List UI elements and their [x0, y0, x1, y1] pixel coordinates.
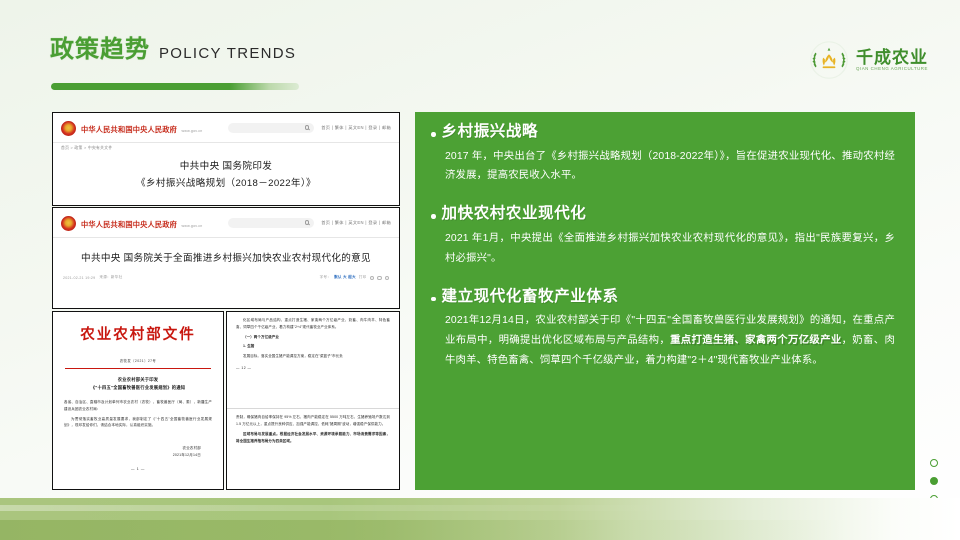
font-size-options[interactable]: 默认 大 超大: [334, 275, 356, 280]
footer-decorative-band: [0, 498, 960, 540]
gov-org-name: 中华人民共和国中央人民政府: [81, 125, 177, 134]
policy-body-text: 2017 年，中央出台了《乡村振兴战略规划（2018-2022年）》，旨在促进农…: [445, 151, 895, 182]
refresh-icon[interactable]: [377, 276, 382, 281]
policy-section-1: 乡村振兴战略 2017 年，中央出台了《乡村振兴战略规划（2018-2022年）…: [431, 124, 897, 186]
gov-org-name: 中华人民共和国中央人民政府: [81, 220, 177, 229]
gov-search-input[interactable]: [228, 218, 314, 228]
document-meta-row: 2021-02-21 19:29 来源：新华社 字号： 默认 大 超大 打印: [53, 267, 399, 280]
document-screenshot-plan-body[interactable]: 化区域布局与产品结构，重点打造生猪、家禽两个万亿级产业，奶畜、肉牛肉羊、特色畜禽…: [226, 311, 400, 490]
document-number: 农牧发〔2021〕27号: [53, 358, 223, 363]
document-meta-tools[interactable]: 字号： 默认 大 超大 打印: [320, 275, 389, 280]
gov-search-input[interactable]: [228, 123, 314, 133]
policy-section-3-title: 建立现代化畜牧产业体系: [442, 289, 619, 305]
breadcrumb[interactable]: 首页 > 政策 > 中央有关文件: [53, 143, 399, 151]
pagination-dot-2-active[interactable]: [930, 477, 938, 485]
brand-logo: 千成农业 QIAN CHENG AGRICULTURE: [809, 40, 928, 80]
document-body-paragraph: 化区域布局与产品结构，重点打造生猪、家禽两个万亿级产业，奶畜、肉牛肉羊、特色畜禽…: [236, 317, 390, 331]
document-title: 中共中央 国务院印发 《乡村振兴战略规划（2018－2022年）》: [53, 151, 399, 193]
gov-site-header: 中华人民共和国中央人民政府 www.gov.cn 首页 | 繁体 | 英文EN …: [53, 208, 399, 238]
document-title-line-2: 《乡村振兴战略规划（2018－2022年）》: [63, 176, 389, 193]
document-title-line-1: 中共中央 国务院印发: [63, 159, 389, 176]
title-underline-bar: [51, 83, 299, 90]
document-block-gap: [227, 371, 399, 408]
document-body-subheading: 1. 生猪: [236, 343, 390, 350]
brand-name-cn: 千成农业: [856, 49, 928, 66]
gov-nav-links[interactable]: 首页 | 繁体 | 英文EN | 登录 | 邮箱: [321, 220, 391, 226]
publish-source: 来源：新华社: [99, 275, 122, 280]
letterhead-divider: [65, 368, 211, 369]
national-emblem-icon: [61, 216, 76, 231]
gov-site-name: 中华人民共和国中央人民政府 www.gov.cn: [81, 119, 202, 137]
gov-nav-links[interactable]: 首页 | 繁体 | 英文EN | 登录 | 邮箱: [321, 125, 391, 131]
document-subtitle-line-1: 农业农村部关于印发: [62, 376, 214, 384]
document-signature: 农业农村部 2021年12月14日: [53, 445, 223, 460]
page-number: — 1 —: [53, 467, 223, 471]
document-subtitle: 农业农村部关于印发 《"十四五"全国畜牧兽医行业发展规划》的通知: [53, 376, 223, 392]
bullet-dot-icon: [431, 132, 436, 137]
policy-section-3: 建立现代化畜牧产业体系 2021年12月14日，农业农村部关于印《"十四五"全国…: [431, 289, 897, 371]
search-icon[interactable]: [305, 125, 310, 130]
slide-header: 政策趋势 POLICY TRENDS: [0, 0, 960, 96]
wheat-emblem-icon: [809, 40, 849, 80]
bullet-dot-icon: [431, 297, 436, 302]
policy-trends-panel: 乡村振兴战略 2017 年，中央出台了《乡村振兴战略规划（2018-2022年）…: [415, 112, 915, 490]
policy-body-highlight: 重点打造生猪、家禽两个万亿级产业: [670, 335, 842, 346]
publish-date: 2021-02-21 19:29: [63, 276, 95, 280]
document-screenshot-gov-plan[interactable]: 中华人民共和国中央人民政府 www.gov.cn 首页 | 繁体 | 英文EN …: [52, 112, 400, 206]
policy-section-2-header: 加快农村农业现代化: [431, 206, 897, 222]
document-body-paragraph: 责制，确保猪肉自给率保持在 95% 左右，猪肉产能稳定在 5500 万吨左右，生…: [236, 414, 390, 428]
document-body-paragraph: 为贯彻落实畜牧业高质量发展要求，我部制定了《"十四五"全国畜牧兽医行业发展规划》…: [64, 416, 212, 430]
share-icon[interactable]: [370, 276, 375, 281]
signature-org: 农业农村部: [53, 445, 201, 452]
document-title: 中共中央 国务院关于全面推进乡村振兴加快农业农村现代化的意见: [53, 238, 399, 267]
document-body-paragraph: 区域布局与发展重点。根据经济社会发展水平、资源环境承载能力、市场消费需求等因素，…: [236, 431, 390, 445]
page-title: 政策趋势 POLICY TRENDS: [50, 38, 296, 62]
document-screenshot-ministry-letterhead[interactable]: 农业农村部文件 农牧发〔2021〕27号 农业农村部关于印发 《"十四五"全国畜…: [52, 311, 224, 490]
document-subtitle-line-2: 《"十四五"全国畜牧兽医行业发展规划》的通知: [62, 384, 214, 392]
font-size-label: 字号：: [320, 275, 332, 280]
document-body-heading: （一）两个万亿级产业: [236, 334, 390, 341]
document-body-paragraph: 发展目标。落实全国生猪产能调控方案，稳定在"菜篮子"市长负: [236, 353, 390, 360]
policy-section-3-header: 建立现代化畜牧产业体系: [431, 289, 897, 305]
gov-site-url: www.gov.cn: [182, 129, 203, 133]
document-screenshot-column: 中华人民共和国中央人民政府 www.gov.cn 首页 | 繁体 | 英文EN …: [52, 112, 400, 490]
brand-name-en: QIAN CHENG AGRICULTURE: [856, 67, 928, 71]
national-emblem-icon: [61, 121, 76, 136]
gov-site-name: 中华人民共和国中央人民政府 www.gov.cn: [81, 214, 202, 232]
gov-site-header: 中华人民共和国中央人民政府 www.gov.cn 首页 | 繁体 | 英文EN …: [53, 113, 399, 143]
policy-section-1-title: 乡村振兴战略: [442, 124, 539, 140]
slide-pagination[interactable]: [930, 459, 938, 503]
policy-section-3-body: 2021年12月14日，农业农村部关于印《"十四五"全国畜牧兽医行业发展规划》的…: [431, 311, 897, 371]
page-number: — 12 —: [236, 365, 390, 372]
policy-section-1-body: 2017 年，中央出台了《乡村振兴战略规划（2018-2022年）》，旨在促进农…: [431, 147, 897, 187]
print-label[interactable]: 打印: [359, 275, 367, 280]
bullet-dot-icon: [431, 214, 436, 219]
policy-section-2-body: 2021 年1月，中央提出《全面推进乡村振兴加快农业农村现代化的意见》，指出"民…: [431, 229, 897, 269]
policy-section-2-title: 加快农村农业现代化: [442, 206, 587, 222]
policy-section-2: 加快农村农业现代化 2021 年1月，中央提出《全面推进乡村振兴加快农业农村现代…: [431, 206, 897, 268]
document-body-paragraph: 各省、自治区、直辖市及计划单列市农业农村（农牧）、畜牧兽医厅（局、委），新疆生产…: [64, 399, 212, 413]
search-icon[interactable]: [305, 220, 310, 225]
page-title-cn: 政策趋势: [50, 38, 150, 62]
gov-site-url: www.gov.cn: [182, 224, 203, 228]
settings-icon[interactable]: [385, 276, 390, 281]
brand-logo-text: 千成农业 QIAN CHENG AGRICULTURE: [856, 49, 928, 71]
policy-section-1-header: 乡村振兴战略: [431, 124, 897, 140]
pagination-dot-1[interactable]: [930, 459, 938, 467]
document-screenshot-gov-opinion[interactable]: 中华人民共和国中央人民政府 www.gov.cn 首页 | 繁体 | 英文EN …: [52, 207, 400, 309]
document-body: 各省、自治区、直辖市及计划单列市农业农村（农牧）、畜牧兽医厅（局、委），新疆生产…: [53, 399, 223, 429]
document-body-block-1: 化区域布局与产品结构，重点打造生猪、家禽两个万亿级产业，奶畜、肉牛肉羊、特色畜禽…: [227, 312, 399, 371]
letterhead-title: 农业农村部文件: [53, 323, 223, 344]
policy-body-text: 2021 年1月，中央提出《全面推进乡村振兴加快农业农村现代化的意见》，指出"民…: [445, 233, 895, 264]
document-body-block-2: 责制，确保猪肉自给率保持在 95% 左右，猪肉产能稳定在 5500 万吨左右，生…: [227, 409, 399, 445]
signature-date: 2021年12月14日: [53, 452, 201, 459]
page-title-en: POLICY TRENDS: [159, 46, 296, 62]
